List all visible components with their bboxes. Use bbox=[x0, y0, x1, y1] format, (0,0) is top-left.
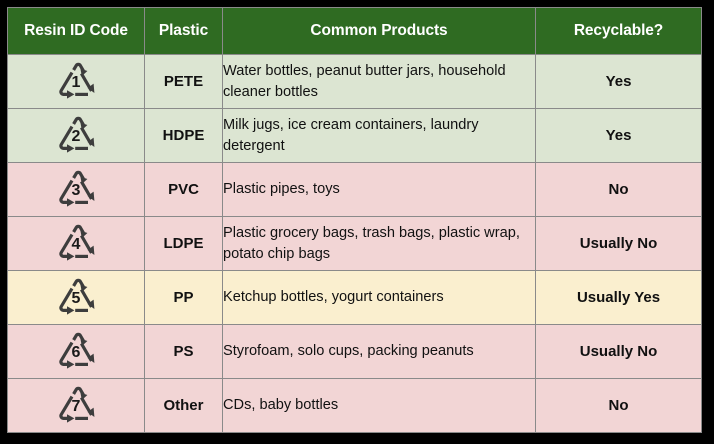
cell-common-products: CDs, baby bottles bbox=[223, 379, 536, 433]
resin-code-symbol: 3 bbox=[50, 168, 102, 212]
cell-recyclable: Yes bbox=[536, 109, 702, 163]
column-header-recyclable: Recyclable? bbox=[536, 8, 702, 55]
table-row: 4LDPEPlastic grocery bags, trash bags, p… bbox=[8, 217, 702, 271]
resin-code-symbol: 1 bbox=[50, 60, 102, 104]
cell-resin-id-code: 1 bbox=[8, 55, 145, 109]
table-row: 3PVCPlastic pipes, toysNo bbox=[8, 163, 702, 217]
resin-code-symbol: 5 bbox=[50, 276, 102, 320]
table-row: 6PSStyrofoam, solo cups, packing peanuts… bbox=[8, 325, 702, 379]
cell-recyclable: No bbox=[536, 379, 702, 433]
cell-resin-id-code: 3 bbox=[8, 163, 145, 217]
resin-code-number: 7 bbox=[50, 384, 102, 428]
cell-resin-id-code: 4 bbox=[8, 217, 145, 271]
cell-resin-id-code: 7 bbox=[8, 379, 145, 433]
cell-common-products: Ketchup bottles, yogurt containers bbox=[223, 271, 536, 325]
resin-code-symbol: 7 bbox=[50, 384, 102, 428]
column-header-resin-id-code: Resin ID Code bbox=[8, 8, 145, 55]
column-header-plastic: Plastic bbox=[145, 8, 223, 55]
cell-recyclable: No bbox=[536, 163, 702, 217]
column-header-common-products: Common Products bbox=[223, 8, 536, 55]
cell-resin-id-code: 5 bbox=[8, 271, 145, 325]
cell-common-products: Milk jugs, ice cream containers, laundry… bbox=[223, 109, 536, 163]
table-body: 1PETEWater bottles, peanut butter jars, … bbox=[8, 55, 702, 433]
resin-id-code-table-container: Resin ID Code Plastic Common Products Re… bbox=[7, 7, 701, 433]
cell-plastic: PP bbox=[145, 271, 223, 325]
cell-plastic: Other bbox=[145, 379, 223, 433]
cell-plastic: PVC bbox=[145, 163, 223, 217]
table-row: 2HDPEMilk jugs, ice cream containers, la… bbox=[8, 109, 702, 163]
resin-code-symbol: 2 bbox=[50, 114, 102, 158]
resin-code-number: 4 bbox=[50, 222, 102, 266]
cell-plastic: HDPE bbox=[145, 109, 223, 163]
resin-code-symbol: 6 bbox=[50, 330, 102, 374]
table-row: 7OtherCDs, baby bottlesNo bbox=[8, 379, 702, 433]
resin-code-number: 1 bbox=[50, 60, 102, 104]
cell-common-products: Styrofoam, solo cups, packing peanuts bbox=[223, 325, 536, 379]
resin-code-number: 3 bbox=[50, 168, 102, 212]
resin-code-symbol: 4 bbox=[50, 222, 102, 266]
cell-recyclable: Yes bbox=[536, 55, 702, 109]
resin-id-code-table: Resin ID Code Plastic Common Products Re… bbox=[7, 7, 702, 433]
cell-common-products: Plastic grocery bags, trash bags, plasti… bbox=[223, 217, 536, 271]
table-row: 1PETEWater bottles, peanut butter jars, … bbox=[8, 55, 702, 109]
resin-code-number: 2 bbox=[50, 114, 102, 158]
resin-code-number: 6 bbox=[50, 330, 102, 374]
cell-plastic: PETE bbox=[145, 55, 223, 109]
cell-common-products: Water bottles, peanut butter jars, house… bbox=[223, 55, 536, 109]
table-header-row: Resin ID Code Plastic Common Products Re… bbox=[8, 8, 702, 55]
cell-resin-id-code: 6 bbox=[8, 325, 145, 379]
cell-plastic: PS bbox=[145, 325, 223, 379]
cell-recyclable: Usually Yes bbox=[536, 271, 702, 325]
cell-plastic: LDPE bbox=[145, 217, 223, 271]
table-row: 5PPKetchup bottles, yogurt containersUsu… bbox=[8, 271, 702, 325]
resin-code-number: 5 bbox=[50, 276, 102, 320]
cell-recyclable: Usually No bbox=[536, 325, 702, 379]
cell-common-products: Plastic pipes, toys bbox=[223, 163, 536, 217]
cell-resin-id-code: 2 bbox=[8, 109, 145, 163]
table-header: Resin ID Code Plastic Common Products Re… bbox=[8, 8, 702, 55]
cell-recyclable: Usually No bbox=[536, 217, 702, 271]
